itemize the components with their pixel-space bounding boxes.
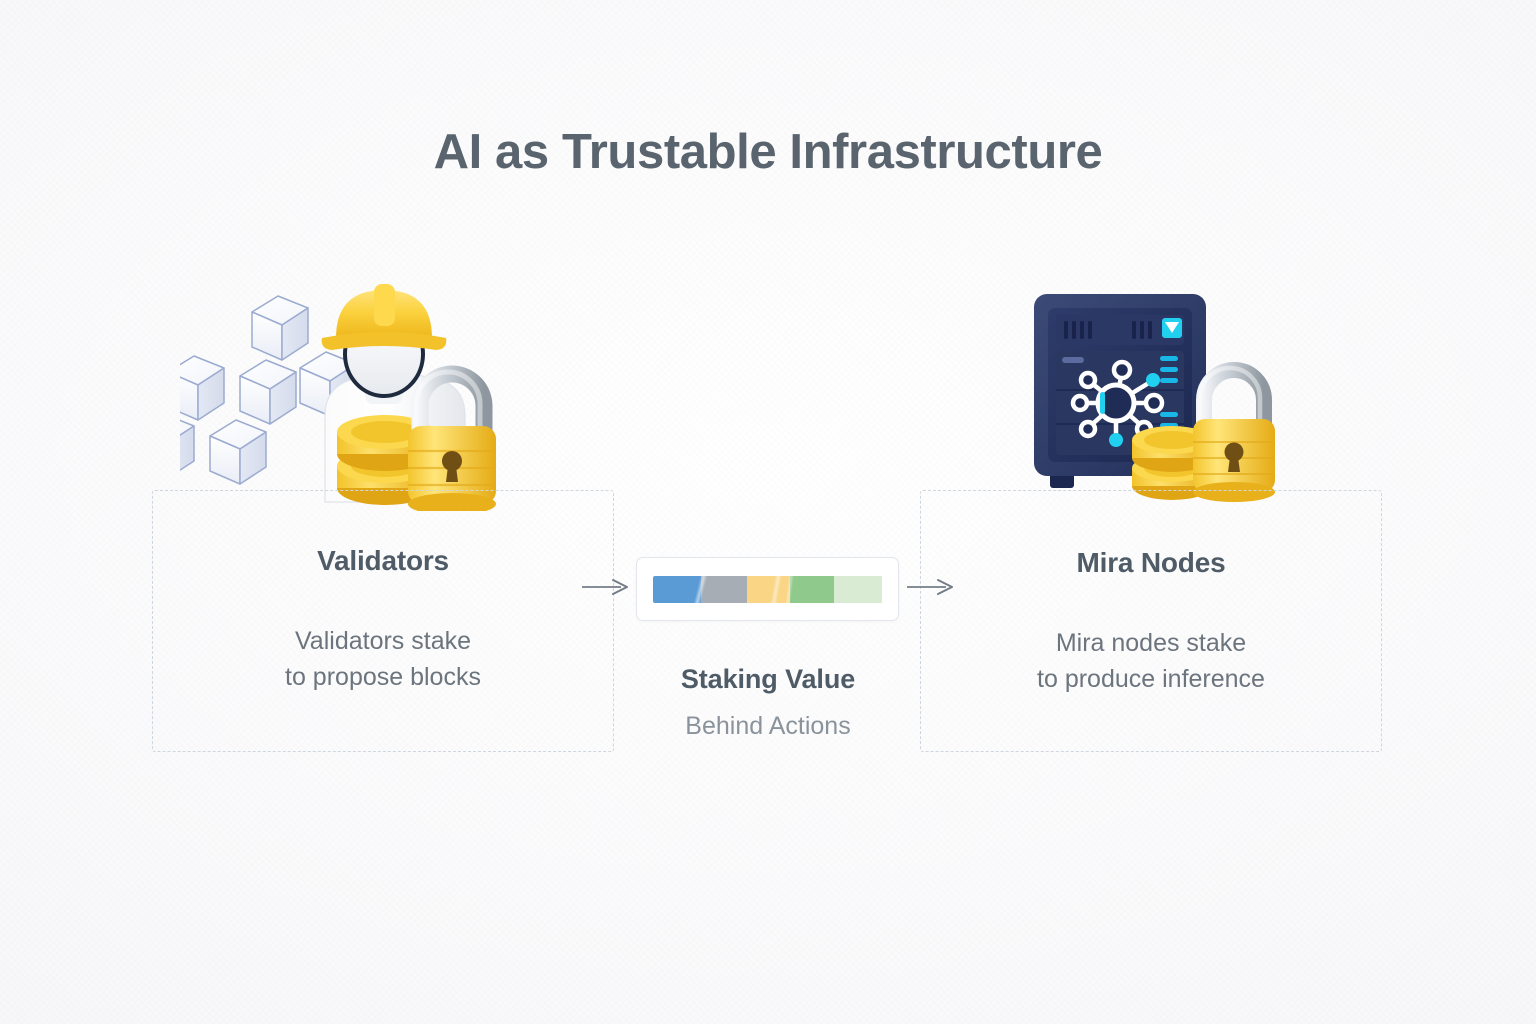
staking-value-subtitle: Behind Actions — [596, 712, 940, 741]
staking-value-color-bar — [653, 576, 883, 603]
validators-heading: Validators — [153, 545, 613, 577]
mira-nodes-description-line1: Mira nodes stake — [1056, 629, 1246, 657]
validators-card[interactable]: Validators Validators stake to propose b… — [152, 490, 614, 752]
mira-nodes-description: Mira nodes stake to produce inference — [921, 625, 1381, 697]
validators-description-line1: Validators stake — [295, 627, 471, 655]
green-segment — [790, 576, 834, 603]
mira-nodes-description-line2: to produce inference — [1037, 665, 1265, 693]
arrow-staking-to-mira-nodes-icon — [906, 574, 954, 600]
validators-description: Validators stake to propose blocks — [153, 623, 613, 695]
validators-description-line2: to propose blocks — [285, 663, 481, 691]
server-network-coins-lock-icon — [1012, 288, 1312, 510]
gray-segment — [701, 576, 747, 603]
staking-value-bar-panel[interactable] — [636, 557, 899, 621]
page-title: AI as Trustable Infrastructure — [0, 124, 1536, 180]
mira-nodes-card[interactable]: Mira Nodes Mira nodes stake to produce i… — [920, 490, 1382, 752]
mira-nodes-heading: Mira Nodes — [921, 547, 1381, 579]
arrow-validators-to-staking-icon — [581, 574, 629, 600]
blocks-worker-coins-lock-icon — [180, 276, 525, 511]
pale-green-segment — [834, 576, 882, 603]
blue-segment — [653, 576, 701, 603]
staking-value-title: Staking Value — [596, 664, 940, 695]
amber-segment — [747, 576, 791, 603]
